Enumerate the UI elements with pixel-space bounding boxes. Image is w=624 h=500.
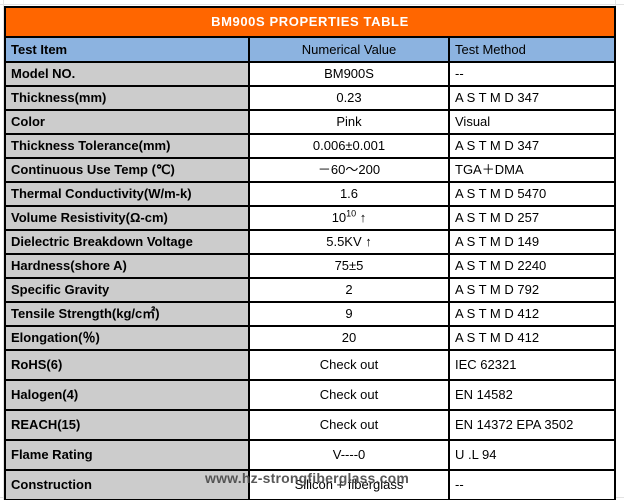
table-row: Continuous Use Temp (℃)－60〜200TGA＋DMA xyxy=(5,158,615,182)
cell-test-item: Thickness(mm) xyxy=(5,86,249,110)
value-base: 10 xyxy=(332,210,346,225)
cell-test-item: Volume Resistivity(Ω-cm) xyxy=(5,206,249,230)
table-row: ColorPinkVisual xyxy=(5,110,615,134)
value-suffix: ↑ xyxy=(356,210,366,225)
table-row: Specific Gravity2A S T M D 792 xyxy=(5,278,615,302)
cell-test-method: A S T M D 257 xyxy=(449,206,615,230)
cell-test-item: Halogen(4) xyxy=(5,380,249,410)
column-header-row: Test Item Numerical Value Test Method xyxy=(5,37,615,62)
cell-test-item: Construction xyxy=(5,470,249,500)
table-row: Model NO.BM900S-- xyxy=(5,62,615,86)
table-row: Thickness(mm)0.23A S T M D 347 xyxy=(5,86,615,110)
table-row: Tensile Strength(kg/c㎡)9A S T M D 412 xyxy=(5,302,615,326)
table-row: Halogen(4)Check outEN 14582 xyxy=(5,380,615,410)
cell-test-item: Color xyxy=(5,110,249,134)
cell-numerical-value: 0.006±0.001 xyxy=(249,134,449,158)
cell-numerical-value: －60〜200 xyxy=(249,158,449,182)
value-exponent: 10 xyxy=(346,209,356,219)
cell-numerical-value: Check out xyxy=(249,350,449,380)
spreadsheet-canvas: BM900S PROPERTIES TABLE Test Item Numeri… xyxy=(0,0,624,500)
table-body: BM900S PROPERTIES TABLE Test Item Numeri… xyxy=(5,7,615,500)
cell-numerical-value: Silicon + fiberglass xyxy=(249,470,449,500)
cell-numerical-value: 1010 ↑ xyxy=(249,206,449,230)
cell-numerical-value: 20 xyxy=(249,326,449,350)
cell-numerical-value: V----0 xyxy=(249,440,449,470)
cell-test-item: Flame Rating xyxy=(5,440,249,470)
column-header-numerical-value: Numerical Value xyxy=(249,37,449,62)
cell-test-item: Thickness Tolerance(mm) xyxy=(5,134,249,158)
cell-numerical-value: 9 xyxy=(249,302,449,326)
cell-numerical-value: BM900S xyxy=(249,62,449,86)
cell-test-item: REACH(15) xyxy=(5,410,249,440)
table-row: Elongation(％)20A S T M D 412 xyxy=(5,326,615,350)
cell-numerical-value: Check out xyxy=(249,380,449,410)
cell-test-item: Thermal Conductivity(W/m-k) xyxy=(5,182,249,206)
cell-numerical-value: 5.5KV ↑ xyxy=(249,230,449,254)
table-row: Thickness Tolerance(mm)0.006±0.001A S T … xyxy=(5,134,615,158)
cell-test-method: A S T M D 149 xyxy=(449,230,615,254)
cell-test-method: A S T M D 792 xyxy=(449,278,615,302)
cell-test-item: Tensile Strength(kg/c㎡) xyxy=(5,302,249,326)
cell-test-item: Specific Gravity xyxy=(5,278,249,302)
cell-numerical-value: 1.6 xyxy=(249,182,449,206)
cell-numerical-value: 75±5 xyxy=(249,254,449,278)
properties-table: BM900S PROPERTIES TABLE Test Item Numeri… xyxy=(4,6,616,500)
cell-test-method: U .L 94 xyxy=(449,440,615,470)
cell-numerical-value: Pink xyxy=(249,110,449,134)
table-row: Thermal Conductivity(W/m-k)1.6A S T M D … xyxy=(5,182,615,206)
cell-test-item: Elongation(％) xyxy=(5,326,249,350)
cell-test-method: EN 14582 xyxy=(449,380,615,410)
grid-line-horizontal xyxy=(0,4,624,5)
cell-test-method: A S T M D 347 xyxy=(449,134,615,158)
cell-test-method: Visual xyxy=(449,110,615,134)
column-header-test-item: Test Item xyxy=(5,37,249,62)
cell-numerical-value: Check out xyxy=(249,410,449,440)
cell-test-item: Hardness(shore A) xyxy=(5,254,249,278)
cell-test-item: Dielectric Breakdown Voltage xyxy=(5,230,249,254)
table-row: Flame RatingV----0U .L 94 xyxy=(5,440,615,470)
cell-test-method: A S T M D 412 xyxy=(449,326,615,350)
table-row: Hardness(shore A)75±5A S T M D 2240 xyxy=(5,254,615,278)
cell-test-method: -- xyxy=(449,470,615,500)
cell-test-method: EN 14372 EPA 3502 xyxy=(449,410,615,440)
cell-test-method: IEC 62321 xyxy=(449,350,615,380)
column-header-test-method: Test Method xyxy=(449,37,615,62)
table-row: Volume Resistivity(Ω-cm)1010 ↑A S T M D … xyxy=(5,206,615,230)
table-row: REACH(15)Check outEN 14372 EPA 3502 xyxy=(5,410,615,440)
cell-numerical-value: 2 xyxy=(249,278,449,302)
title-row: BM900S PROPERTIES TABLE xyxy=(5,7,615,37)
cell-test-method: A S T M D 2240 xyxy=(449,254,615,278)
cell-numerical-value: 0.23 xyxy=(249,86,449,110)
cell-test-item: Continuous Use Temp (℃) xyxy=(5,158,249,182)
table-row: ConstructionSilicon + fiberglass-- xyxy=(5,470,615,500)
cell-test-method: A S T M D 5470 xyxy=(449,182,615,206)
table-row: Dielectric Breakdown Voltage5.5KV ↑A S T… xyxy=(5,230,615,254)
cell-test-item: RoHS(6) xyxy=(5,350,249,380)
table-title: BM900S PROPERTIES TABLE xyxy=(5,7,615,37)
cell-test-method: -- xyxy=(449,62,615,86)
cell-test-method: A S T M D 412 xyxy=(449,302,615,326)
table-row: RoHS(6)Check outIEC 62321 xyxy=(5,350,615,380)
cell-test-method: TGA＋DMA xyxy=(449,158,615,182)
cell-test-item: Model NO. xyxy=(5,62,249,86)
cell-test-method: A S T M D 347 xyxy=(449,86,615,110)
properties-table-container: BM900S PROPERTIES TABLE Test Item Numeri… xyxy=(4,6,614,500)
